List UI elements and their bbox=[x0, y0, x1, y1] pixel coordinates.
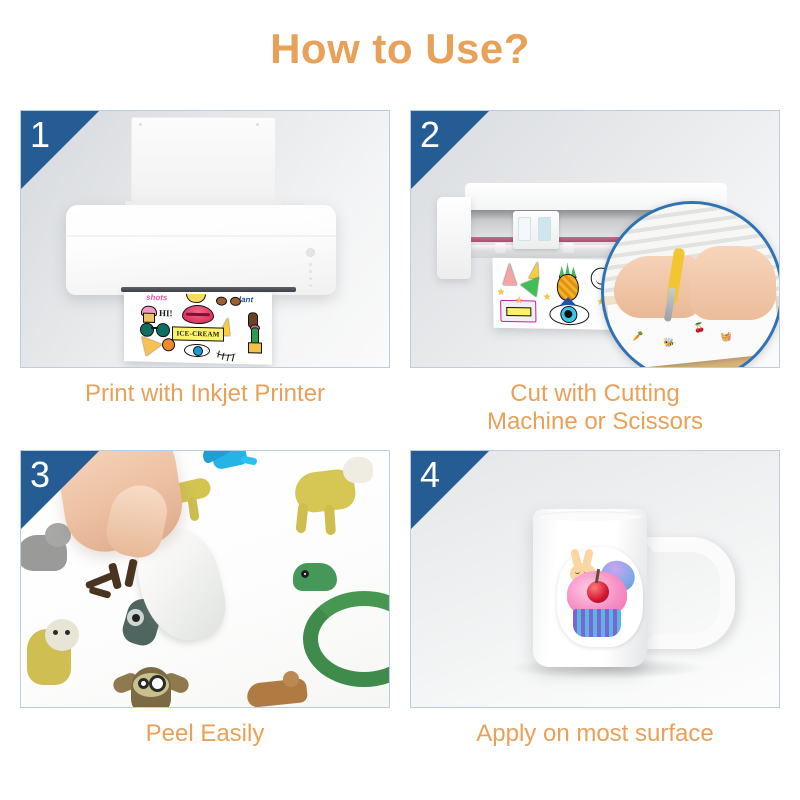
step-3-photo: 3 bbox=[20, 450, 390, 708]
step-2-caption-line-1: Cut with Cutting bbox=[410, 380, 780, 408]
banana-sticker bbox=[186, 294, 206, 303]
nut-sticker-b bbox=[230, 297, 241, 306]
printer-power-led bbox=[307, 249, 314, 256]
yellow-dog-sticker bbox=[289, 453, 381, 539]
cupcake-sticker bbox=[141, 306, 155, 321]
step-2-photo: ★ ★ ★ ★ 🥕 🐝 🍒 🧺 ☂ bbox=[410, 110, 780, 368]
star-sticker-c: ★ bbox=[543, 293, 551, 302]
blue-bird-sticker bbox=[199, 450, 255, 479]
how-to-use-infographic: How to Use? shots plant bbox=[0, 0, 800, 800]
pizza-slice-sticker bbox=[136, 336, 162, 360]
mini-sticker-bee: 🐝 bbox=[663, 338, 675, 348]
mug-handle bbox=[639, 537, 735, 649]
step-card-2: ★ ★ ★ ★ 🥕 🐝 🍒 🧺 ☂ bbox=[410, 110, 780, 437]
page-title: How to Use? bbox=[0, 28, 800, 70]
child-left-hand bbox=[614, 256, 700, 318]
lips-sticker bbox=[182, 305, 214, 325]
printer-output-slot bbox=[121, 287, 296, 292]
cactus-sticker bbox=[246, 325, 262, 353]
step-card-3: 3 Peel Easily bbox=[20, 450, 390, 748]
step-2-caption: Cut with Cutting Machine or Scissors bbox=[410, 380, 780, 437]
green-snake-sticker bbox=[293, 559, 390, 667]
step-3-caption-line-1: Peel Easily bbox=[20, 720, 390, 748]
cupcake-wrapper bbox=[573, 609, 621, 637]
big-eye-sticker bbox=[549, 299, 587, 324]
mouse-sticker bbox=[243, 669, 319, 708]
step-3-caption: Peel Easily bbox=[20, 720, 390, 748]
printer-body bbox=[66, 205, 336, 295]
lightning-sticker-2 bbox=[529, 261, 543, 278]
step-2-caption-line-2: Machine or Scissors bbox=[410, 408, 780, 436]
cherry-topping bbox=[587, 581, 609, 603]
step-1-photo: shots plant HI! ICE-CREAM bbox=[20, 110, 390, 368]
sunglasses-sticker bbox=[140, 323, 170, 336]
star-sticker-a: ★ bbox=[497, 288, 505, 297]
printer-button-row bbox=[309, 263, 312, 266]
mini-sticker-basket: 🧺 bbox=[721, 332, 733, 342]
hi-text-sticker: HI! bbox=[159, 308, 173, 318]
printer-paper-tray bbox=[131, 117, 276, 209]
step-4-photo: 4 bbox=[410, 450, 780, 708]
step-card-1: shots plant HI! ICE-CREAM bbox=[20, 110, 390, 408]
ice-cream-cone-sticker bbox=[502, 263, 516, 285]
mini-sticker-cherry: 🍒 bbox=[693, 323, 705, 333]
printed-sticker-sheet: shots plant HI! ICE-CREAM bbox=[124, 289, 272, 365]
child-right-hand bbox=[690, 246, 776, 320]
step-4-caption: Apply on most surface bbox=[410, 720, 780, 748]
step-1-caption: Print with Inkjet Printer bbox=[20, 380, 390, 408]
star-sticker-b: ★ bbox=[515, 296, 523, 305]
pink-script-sticker: shots bbox=[146, 293, 167, 303]
green-arrow-sticker bbox=[520, 277, 545, 300]
step-4-caption-line-1: Apply on most surface bbox=[410, 720, 780, 748]
orange-fruit-sticker bbox=[162, 338, 175, 351]
cupcake-bunny-sticker bbox=[557, 547, 643, 647]
machine-roller-mid bbox=[563, 243, 574, 253]
step-1-caption-line-1: Print with Inkjet Printer bbox=[20, 380, 390, 408]
step-card-4: 4 Apply on most surface bbox=[410, 450, 780, 748]
eyelash-sticker bbox=[216, 346, 236, 355]
mini-sticker-carrot: 🥕 bbox=[632, 331, 644, 341]
ice-cream-label-sticker: ICE-CREAM bbox=[172, 326, 224, 341]
nut-sticker-a bbox=[216, 296, 227, 305]
pineapple-sticker bbox=[554, 265, 579, 299]
owl-sticker bbox=[109, 657, 195, 708]
machine-blade-carriage bbox=[513, 211, 559, 249]
machine-roller-left bbox=[495, 243, 506, 253]
eye-sticker bbox=[184, 344, 210, 358]
steps-grid: shots plant HI! ICE-CREAM bbox=[20, 110, 780, 780]
machine-left-housing bbox=[437, 197, 471, 279]
child-cutting-inset-photo: 🥕 🐝 🍒 🧺 ☂ bbox=[601, 201, 780, 368]
